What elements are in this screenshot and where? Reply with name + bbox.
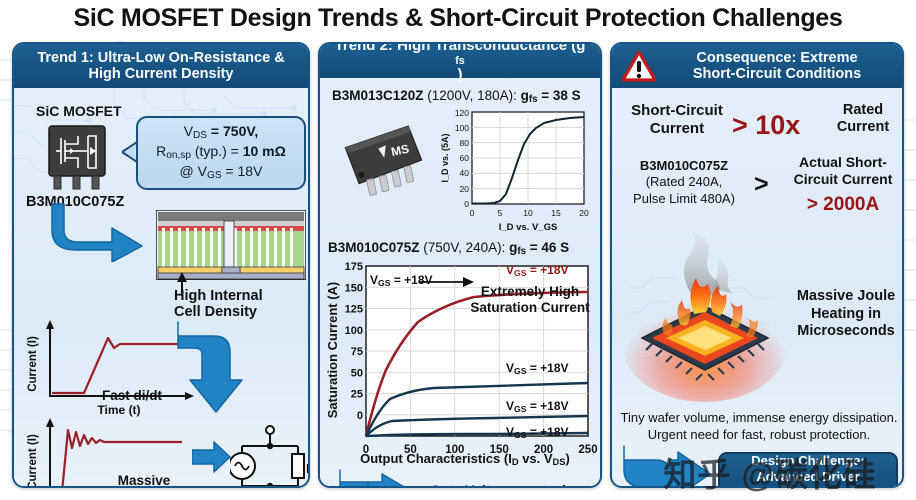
svg-text:40: 40 (460, 168, 470, 178)
page-title: SiC MOSFET Design Trends & Short-Circuit… (0, 0, 916, 36)
vgs-label-left: VGS = +18V (370, 274, 433, 289)
vgs-c3-sub: GS (514, 404, 526, 414)
actual-sc-current-value: > 2000A (782, 194, 904, 215)
svg-text:75: 75 (351, 346, 363, 358)
panel-3-header-line2: Short-Circuit Conditions (693, 66, 861, 82)
svg-text:100: 100 (455, 123, 469, 133)
arrow-to-cross-section-icon (50, 200, 146, 262)
arrow-down-to-circuit-icon (176, 318, 254, 418)
svg-text:100: 100 (345, 325, 363, 337)
svg-text:0: 0 (357, 410, 363, 422)
footnote-line1: Tiny wafer volume, immense energy dissip… (616, 410, 902, 427)
panel-3-part-pulse: Pulse Limit 480A) (618, 191, 750, 207)
surface-mount-package-icon: MS (334, 122, 434, 212)
saturation-line1: Extremely High (460, 284, 600, 300)
svg-text:Current (I): Current (I) (27, 434, 39, 488)
rated-current-label: Rated Current (824, 102, 902, 137)
svg-text:20: 20 (579, 208, 589, 218)
panel-trend-2: Trend 2: High Transconductance (gfs) B3M… (318, 42, 602, 488)
device-2-gfs-sub: fs (517, 246, 526, 257)
panel-3-header-line1: Consequence: Extreme (693, 50, 861, 66)
arrow-design-challenge-icon (622, 444, 714, 488)
takeaway-line1: Gate Voltage controls (430, 482, 579, 488)
svg-text:0: 0 (464, 199, 469, 209)
device-2-part: B3M010C075Z (328, 240, 420, 255)
sic-mosfet-label: SiC MOSFET (36, 104, 122, 120)
svg-text:150: 150 (345, 283, 363, 295)
ron-typ-text: (typ.) = (191, 143, 243, 159)
vgs-c4-symbol: V (506, 425, 514, 439)
svg-text:80: 80 (460, 138, 470, 148)
callout-line-vgs: @ VGS = 18V (180, 163, 263, 183)
svg-text:50: 50 (351, 368, 363, 380)
scc-line2: Current (626, 120, 728, 138)
chart-transfer-characteristic: 12010080 604020 0 0510 1520 I_D vs. (5A)… (436, 108, 594, 234)
device-2-gfs-value: = 46 S (526, 240, 569, 255)
panel-3-part-number: B3M010C075Z (618, 158, 750, 174)
design-challenge-box[interactable]: Design Challenge: Advanced Driver Protec… (718, 452, 898, 488)
vgs-c4-value: = +18V (526, 425, 568, 439)
svg-text:10: 10 (523, 208, 533, 218)
spec-callout: VDS = 750V, Ron,sp (typ.) = 10 mΩ @ VGS … (136, 116, 306, 190)
panel-1-header-line2: High Current Density (37, 66, 284, 82)
device-2-title: B3M010C075Z (750V, 240A): gfs = 46 S (328, 240, 569, 258)
panel-2-header-pre: Trend 2: High Transconductance (g (335, 42, 586, 55)
device-1-gfs-value: = 38 S (538, 88, 581, 103)
scc-line1: Short-Circuit (626, 102, 728, 120)
iow-symbol: I (306, 461, 310, 476)
svg-text:Current (I): Current (I) (27, 336, 39, 392)
vgs-c2-sub: GS (514, 366, 526, 376)
vgs-c4-sub: GS (514, 430, 526, 440)
ron-value: 10 mΩ (243, 143, 286, 159)
massive-line1: Massive (74, 473, 214, 488)
warning-triangle-icon (622, 50, 656, 82)
arrow-takeaway-icon (338, 468, 424, 488)
design-challenge-line2: Advanced Driver (756, 469, 859, 485)
vgs-c1-value: = +18V (526, 263, 568, 277)
svg-text:60: 60 (460, 153, 470, 163)
ron-subscript: on,sp (166, 150, 191, 161)
iow-label: Iow (306, 462, 310, 478)
greater-than-symbol: > (754, 170, 769, 198)
vgs-label-curve3: VGS = +18V (506, 400, 569, 415)
vds-symbol: V (184, 123, 193, 139)
panel-1-header-line1: Trend 1: Ultra-Low On-Resistance & (37, 50, 284, 66)
svg-text:0: 0 (470, 208, 475, 218)
panel-3-header: Consequence: Extreme Short-Circuit Condi… (612, 44, 902, 88)
svg-text:I_D vs. V_GS: I_D vs. V_GS (499, 222, 558, 233)
svg-text:125: 125 (345, 304, 363, 316)
vgs-subscript: GS (207, 170, 222, 181)
vds-subscript: DS (193, 130, 207, 141)
cell-cross-section-diagram (156, 210, 306, 280)
svg-text:25: 25 (351, 389, 363, 401)
vgs-left-sub: GS (378, 278, 390, 288)
panel-1-header: Trend 1: Ultra-Low On-Resistance & High … (14, 44, 308, 88)
actual-line2: Circuit Current (782, 171, 904, 188)
vds-value: = 750V, (207, 123, 258, 139)
svg-text:175: 175 (345, 261, 363, 273)
device-1-gfs-symbol: g (521, 88, 529, 103)
vgs-c3-symbol: V (506, 399, 514, 413)
cell-density-label: High Internal Cell Density (174, 288, 263, 320)
short-circuit-schematic (230, 424, 308, 488)
svg-text:Saturation Current (A): Saturation Current (A) (325, 282, 340, 419)
burning-chip-illustration (620, 228, 790, 403)
fast-didt-annotation: Fast di/dt (102, 388, 162, 403)
design-challenge-line3: Protection Required (746, 485, 870, 488)
joule-line2: Heating in (792, 306, 900, 324)
svg-text:120: 120 (455, 108, 469, 118)
device-1-title: B3M013C120Z (1200V, 180A): gfs = 38 S (332, 88, 581, 106)
panel-3-part-block: B3M010C075Z (Rated 240A, Pulse Limit 480… (618, 158, 750, 207)
multiplier-value: > 10x (732, 110, 800, 140)
vgs-c3-value: = +18V (526, 399, 568, 413)
chart-top-xlabel: Time (t) (54, 404, 184, 417)
mosfet-package-icon (46, 124, 108, 192)
actual-line1: Actual Short- (782, 154, 904, 171)
callout-line-vds: VDS = 750V, (184, 123, 259, 143)
footnote-line2: Urgent need for fast, robust protection. (616, 427, 902, 444)
joule-heating-label: Massive Joule Heating in Microseconds (792, 288, 900, 341)
device-2-ratings: (750V, 240A): (420, 240, 510, 255)
vgs-c2-symbol: V (506, 361, 514, 375)
vgs-label-curve1: VGS = +18V (506, 264, 569, 279)
vgs-left-symbol: V (370, 273, 378, 287)
svg-text:15: 15 (551, 208, 561, 218)
panel-2-takeaway: Gate Voltage controls Drain Current stro… (430, 482, 579, 488)
panel-3-footnote: Tiny wafer volume, immense energy dissip… (616, 410, 902, 444)
vgs-c1-sub: GS (514, 268, 526, 278)
joule-line1: Massive Joule (792, 288, 900, 306)
vgs-at-symbol: @ V (180, 163, 207, 179)
rated-line1: Rated (824, 102, 902, 119)
svg-text:5: 5 (498, 208, 503, 218)
rated-line2: Current (824, 119, 902, 136)
panel-2-header: Trend 2: High Transconductance (gfs) (320, 44, 600, 78)
arrow-right-to-circuit-icon (192, 440, 232, 474)
cell-density-line1: High Internal (174, 288, 263, 304)
device-1-ratings: (1200V, 180A): (424, 88, 521, 103)
vgs-left-value: = +18V (390, 273, 432, 287)
joule-line3: Microseconds (792, 323, 900, 341)
svg-text:20: 20 (460, 184, 470, 194)
design-challenge-line1: Design Challenge: (751, 453, 864, 469)
saturation-line2: Saturation Current (460, 300, 600, 316)
panel-trend-1: Trend 1: Ultra-Low On-Resistance & High … (12, 42, 310, 488)
short-circuit-current-label: Short-Circuit Current (626, 102, 728, 138)
panel-3-part-rating: (Rated 240A, (618, 174, 750, 190)
vgs-c1-symbol: V (506, 263, 514, 277)
svg-text:I_D vs. (5A): I_D vs. (5A) (440, 133, 450, 182)
actual-sc-current-label: Actual Short- Circuit Current (782, 154, 904, 188)
saturation-annotation: Extremely High Saturation Current (460, 284, 600, 316)
vgs-label-curve4: VGS = +18V (506, 426, 569, 441)
vgs-label-curve2: VGS = +18V (506, 362, 569, 377)
vgs-value: = 18V (222, 163, 263, 179)
output-char-xlabel: Output Characteristics (ID vs. VDS) (340, 452, 590, 468)
panel-consequence: Consequence: Extreme Short-Circuit Condi… (610, 42, 904, 488)
massive-current-annotation: Massive Steady-State Short-Circuit Curre… (74, 473, 214, 488)
device-1-gfs-sub: fs (529, 94, 538, 105)
callout-line-ronsp: Ron,sp (typ.) = 10 mΩ (156, 143, 286, 163)
device-1-part: B3M013C120Z (332, 88, 424, 103)
vgs-c2-value: = +18V (526, 361, 568, 375)
ron-symbol: R (156, 143, 166, 159)
